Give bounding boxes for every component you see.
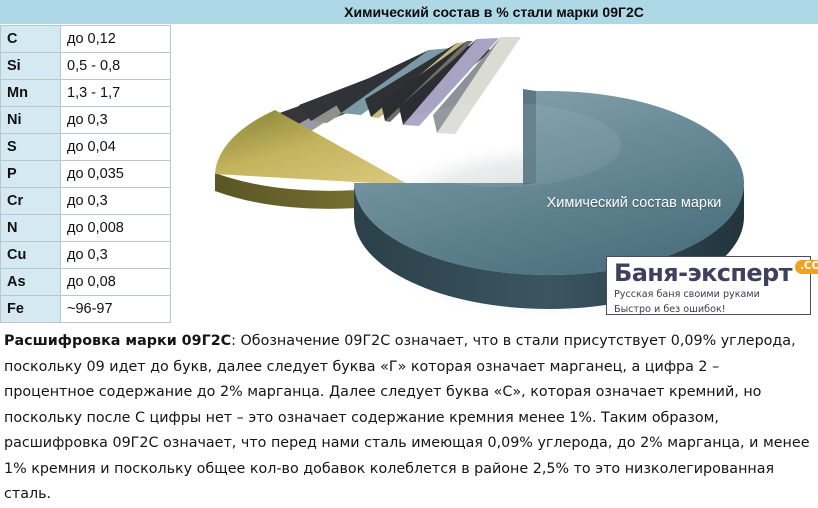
element-value: 1,3 - 1,7 (61, 80, 171, 107)
table-row: Cu до 0,3 (1, 242, 171, 269)
element-value: до 0,08 (61, 269, 171, 296)
table-row: C до 0,12 (1, 26, 171, 53)
pie-highlight (381, 103, 621, 187)
screenshot-root: Химический состав в % стали марки 09Г2С … (0, 0, 818, 507)
element-symbol: Ni (1, 107, 61, 134)
table-row: As до 0,08 (1, 269, 171, 296)
description-body: : Обозначение 09Г2С означает, что в стал… (4, 333, 809, 502)
table-row: Mn 1,3 - 1,7 (1, 80, 171, 107)
element-value: до 0,3 (61, 188, 171, 215)
page-title: Химический состав в % стали марки 09Г2С (0, 0, 818, 24)
logo-tagline-line2: Быстро и без ошибок! (614, 304, 810, 316)
description-lead: Расшифровка марки 09Г2С (4, 333, 231, 349)
table-row: S до 0,04 (1, 134, 171, 161)
element-symbol: S (1, 134, 61, 161)
element-symbol: C (1, 26, 61, 53)
logo-dotcom-badge: .COM (795, 260, 818, 274)
element-value: до 0,04 (61, 134, 171, 161)
logo-brand: Баня-эксперт .COM (614, 260, 810, 286)
page-title-bar: Химический состав в % стали марки 09Г2С (0, 0, 818, 24)
element-value: до 0,3 (61, 107, 171, 134)
description-paragraph: Расшифровка марки 09Г2С: Обозначение 09Г… (0, 324, 818, 507)
site-logo-watermark: Баня-эксперт .COM Русская баня своими ру… (606, 256, 811, 315)
element-symbol: Si (1, 53, 61, 80)
logo-tagline-line1: Русская баня своими руками (614, 289, 810, 301)
element-value: до 0,3 (61, 242, 171, 269)
element-value: до 0,035 (61, 161, 171, 188)
chemical-composition-table: C до 0,12 Si 0,5 - 0,8 Mn 1,3 - 1,7 Ni д… (0, 25, 171, 323)
element-symbol: P (1, 161, 61, 188)
element-symbol: Cu (1, 242, 61, 269)
element-value: до 0,008 (61, 215, 171, 242)
element-value: до 0,12 (61, 26, 171, 53)
table-row: P до 0,035 (1, 161, 171, 188)
table-row: N до 0,008 (1, 215, 171, 242)
table-row: Cr до 0,3 (1, 188, 171, 215)
table-row: Ni до 0,3 (1, 107, 171, 134)
element-symbol: Fe (1, 296, 61, 323)
element-value: ~96-97 (61, 296, 171, 323)
table-row: Si 0,5 - 0,8 (1, 53, 171, 80)
element-symbol: Cr (1, 188, 61, 215)
element-symbol: Mn (1, 80, 61, 107)
element-symbol: N (1, 215, 61, 242)
element-value: 0,5 - 0,8 (61, 53, 171, 80)
table-body: C до 0,12 Si 0,5 - 0,8 Mn 1,3 - 1,7 Ni д… (1, 26, 171, 323)
element-symbol: As (1, 269, 61, 296)
logo-brand-text: Баня-эксперт (614, 260, 792, 286)
table-row: Fe ~96-97 (1, 296, 171, 323)
